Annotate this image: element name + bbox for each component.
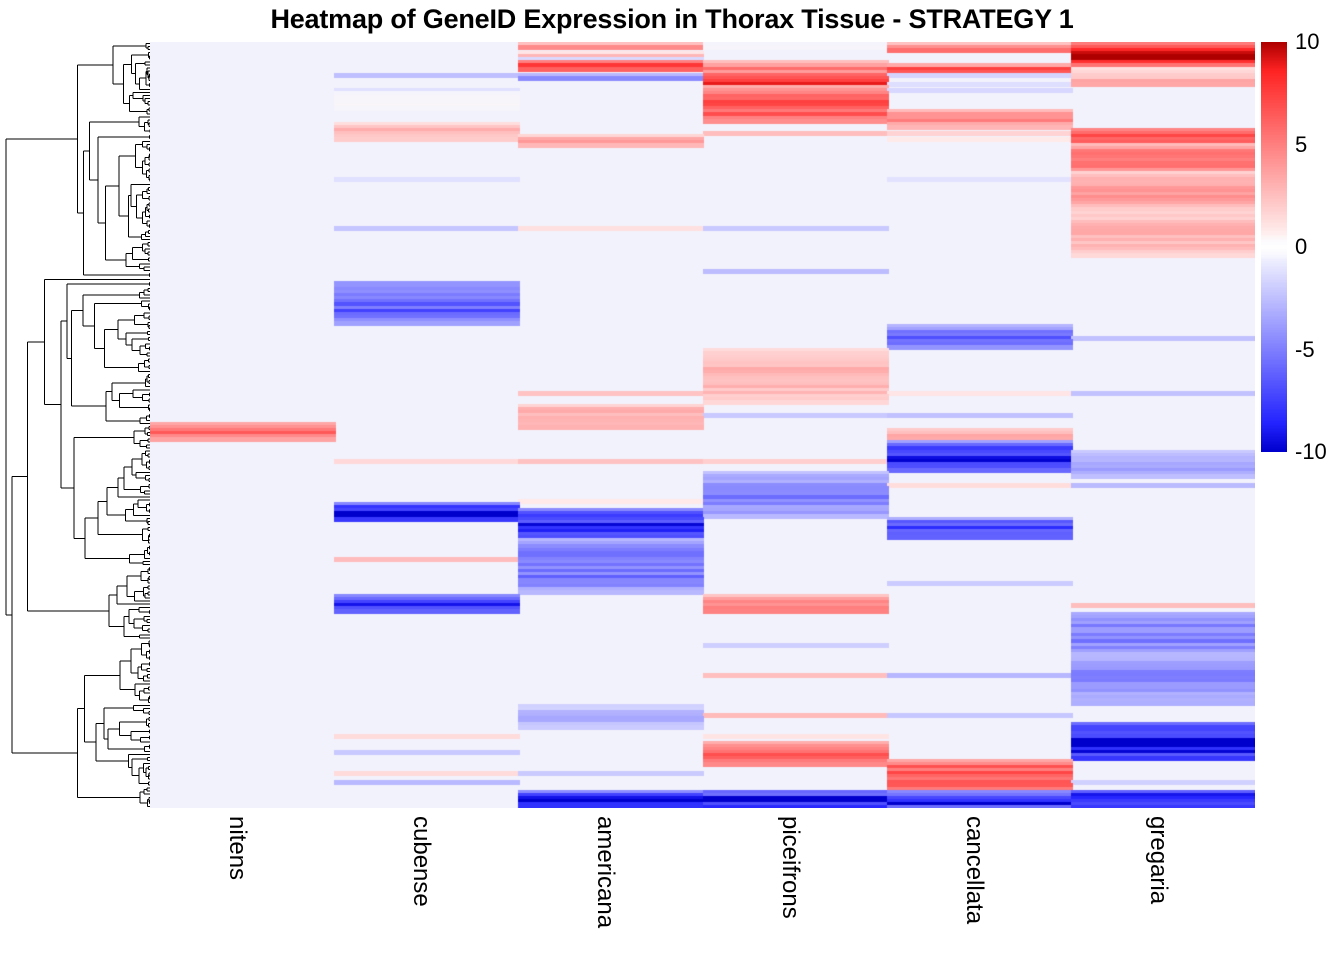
dendrogram-svg xyxy=(0,42,150,808)
colorbar-tick-label: -5 xyxy=(1295,337,1315,363)
x-axis-label-piceifrons: piceifrons xyxy=(776,816,804,919)
x-axis-label-gregaria: gregaria xyxy=(1144,816,1172,904)
row-dendrogram xyxy=(0,42,150,808)
x-axis-label-cancellata: cancellata xyxy=(960,816,988,924)
colorbar-tick-label: 0 xyxy=(1295,234,1307,260)
dendrogram-branches xyxy=(6,44,150,807)
colorbar-tick-label: 10 xyxy=(1295,29,1319,55)
x-axis-labels: nitenscubenseamericanapiceifronscancella… xyxy=(150,808,1255,960)
heatmap-canvas xyxy=(150,42,1255,808)
x-axis-label-americana: americana xyxy=(591,816,619,928)
x-axis-label-cubense: cubense xyxy=(407,816,435,907)
colorbar-tick-label: 5 xyxy=(1295,132,1307,158)
colorbar-tick-label: -10 xyxy=(1295,439,1327,465)
colorbar: 1050-5-10 xyxy=(1261,42,1344,462)
page-title: Heatmap of GeneID Expression in Thorax T… xyxy=(0,4,1344,35)
x-axis-label-nitens: nitens xyxy=(223,816,251,880)
heatmap-figure: Heatmap of GeneID Expression in Thorax T… xyxy=(0,0,1344,960)
colorbar-gradient xyxy=(1261,42,1287,452)
heatmap-grid xyxy=(150,42,1255,808)
